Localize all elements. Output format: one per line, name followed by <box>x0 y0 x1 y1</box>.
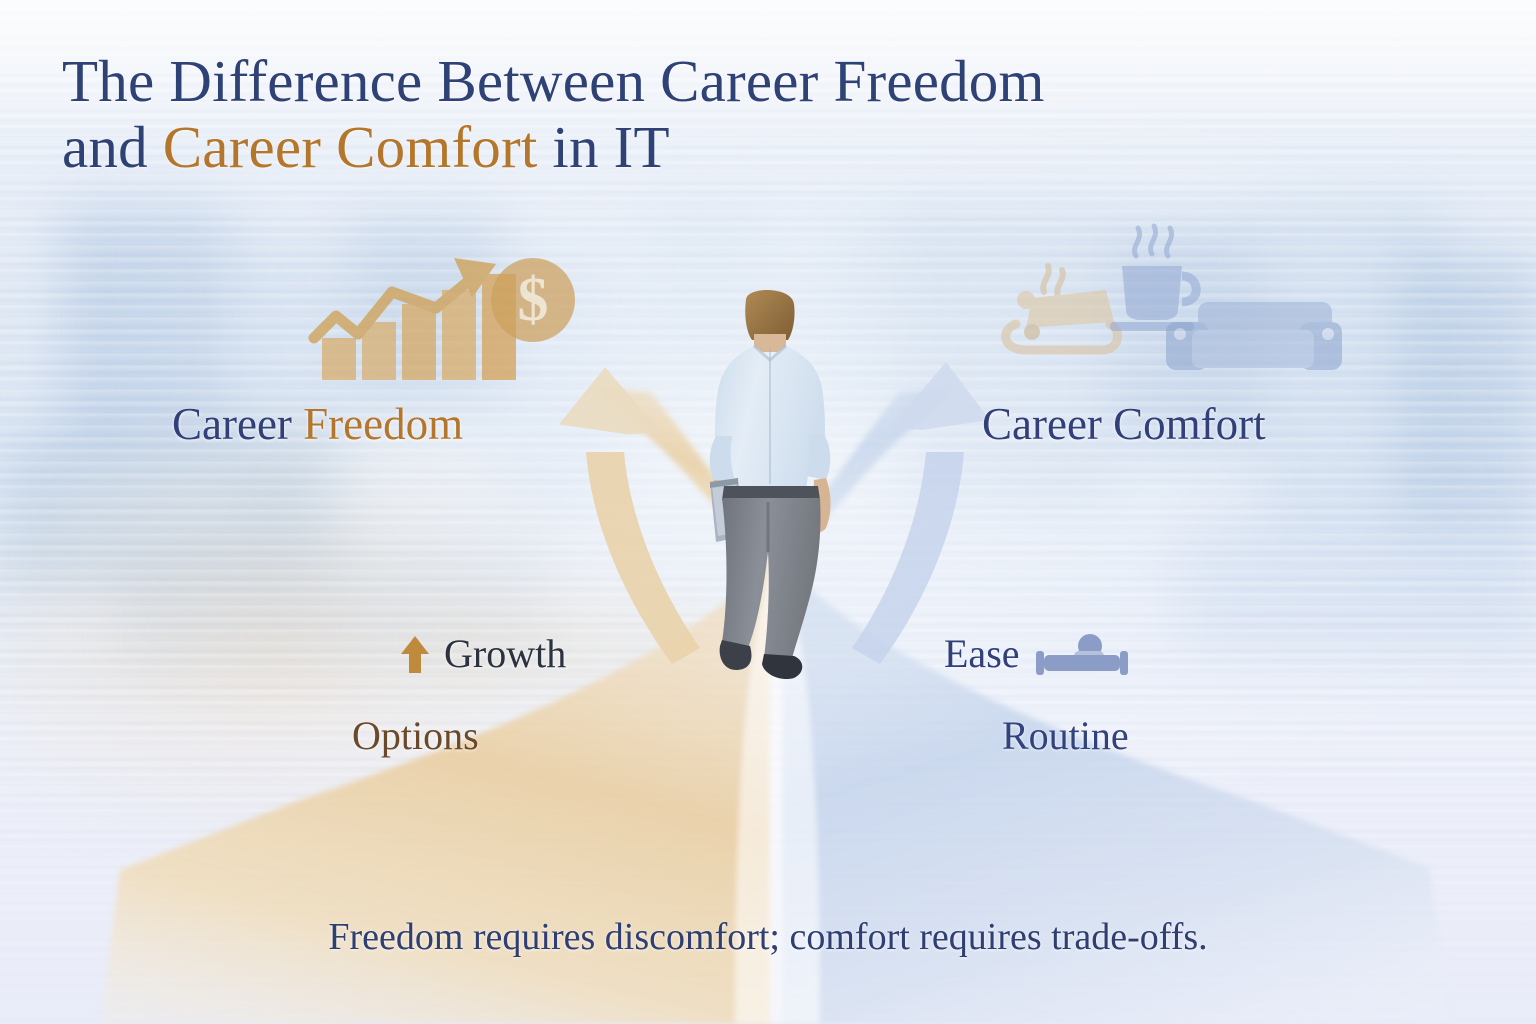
career-comfort-arrow <box>852 362 990 664</box>
keyword-growth-label: Growth <box>444 630 566 677</box>
keyword-routine: Routine <box>1002 712 1129 759</box>
title-line-2-suffix: in IT <box>537 114 669 180</box>
keyword-routine-label: Routine <box>1002 712 1129 759</box>
keyword-options-label: Options <box>352 712 479 759</box>
bed-icon <box>1034 633 1130 675</box>
keyword-growth: Growth <box>400 630 566 677</box>
title-line-2: and Career Comfort in IT <box>62 114 1362 180</box>
branch-heading-left-word2: Freedom <box>303 399 463 449</box>
man-head <box>745 290 794 352</box>
branch-heading-left-word1: Career <box>172 399 292 449</box>
man-trousers <box>722 486 821 658</box>
career-comfort-icon-cluster <box>996 218 1366 383</box>
title-line-1-text: The Difference Between Career Freedom <box>62 48 1045 114</box>
title-accent-career-comfort: Career Comfort <box>163 114 538 180</box>
branch-heading-right-word2: Comfort <box>1113 399 1266 449</box>
keyword-ease-label: Ease <box>944 630 1020 677</box>
career-freedom-arrow <box>560 368 700 664</box>
keyword-ease: Ease <box>944 630 1130 677</box>
growth-bar-chart-icon <box>314 258 516 380</box>
man-shirt <box>710 346 831 492</box>
branch-heading-right-word1: Career <box>982 399 1102 449</box>
keyword-options: Options <box>352 712 479 759</box>
teapot-icon <box>1006 266 1118 350</box>
poster-canvas: $ <box>0 0 1536 1024</box>
sofa-icon <box>1166 302 1342 370</box>
coffee-cup-icon <box>1110 226 1196 331</box>
career-freedom-icon-cluster: $ <box>296 242 586 387</box>
title-line-2-prefix: and <box>62 114 163 180</box>
walking-businessman <box>688 286 852 682</box>
svg-text:$: $ <box>518 266 549 334</box>
dollar-coin-icon: $ <box>491 258 575 342</box>
up-arrow-icon <box>400 634 430 674</box>
poster-caption: Freedom requires discomfort; comfort req… <box>0 915 1536 959</box>
branch-heading-career-comfort: Career Comfort <box>982 398 1266 450</box>
poster-title: The Difference Between Career Freedom an… <box>62 48 1362 180</box>
branch-heading-career-freedom: Career Freedom <box>172 398 463 450</box>
title-line-1: The Difference Between Career Freedom <box>62 48 1362 114</box>
